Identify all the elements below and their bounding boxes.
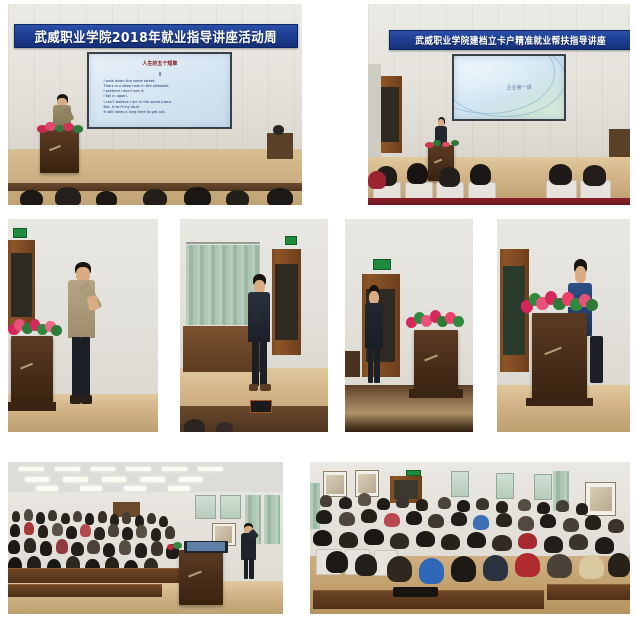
photo-2-banner: 武威职业学院建档立卡户精准就业帮扶指导讲座 <box>389 30 630 50</box>
photo-5-speaker <box>363 285 386 387</box>
photo-2-projection-screen: 企业第一课 <box>452 54 566 120</box>
exit-sign <box>373 259 390 270</box>
photo-7-podium <box>179 550 223 605</box>
photo-2-scene: 武威职业学院建档立卡户精准就业帮扶指导讲座 企业第一课 <box>368 4 630 205</box>
photo-6-podium <box>532 313 588 402</box>
photo-2-audience <box>368 157 630 205</box>
photo-1-banner-text: 武威职业学院2018年就业指导讲座活动周 <box>35 26 277 46</box>
photo-2-banner-text: 武威职业学院建档立卡户精准就业帮扶指导讲座 <box>415 33 606 47</box>
photo-3-podium <box>11 336 53 404</box>
photo-2[interactable]: 武威职业学院建档立卡户精准就业帮扶指导讲座 企业第一课 <box>368 4 630 205</box>
photo-4-speaker <box>245 274 275 393</box>
slide-chapter: II <box>89 72 230 78</box>
photo-1-scene: 武威职业学院2018年就业指导讲座活动周 人生的五个短章 II I walk d… <box>8 4 302 205</box>
photo-6-scene <box>497 219 630 432</box>
photo-5-scene <box>345 219 473 432</box>
photo-7-laptop <box>184 541 228 553</box>
photo-gallery: 武威职业学院2018年就业指导讲座活动周 人生的五个短章 II I walk d… <box>0 0 636 618</box>
photo-6-flowers <box>521 289 598 319</box>
photo-7-speaker <box>239 523 258 581</box>
photo-1[interactable]: 武威职业学院2018年就业指导讲座活动周 人生的五个短章 II I walk d… <box>8 4 302 205</box>
screen-ghost-text: 企业第一课 <box>507 84 532 91</box>
photo-6[interactable] <box>497 219 630 432</box>
photo-4-scene <box>180 219 328 432</box>
exit-sign <box>285 236 297 245</box>
photo-8[interactable] <box>310 462 630 614</box>
slide-title: 人生的五个短章 <box>89 60 230 67</box>
photo-2-door <box>378 76 402 152</box>
photo-4[interactable] <box>180 219 328 432</box>
photo-5[interactable] <box>345 219 473 432</box>
photo-2-flowers <box>423 139 462 151</box>
photo-1-flowers <box>34 121 87 137</box>
photo-3-speaker <box>64 262 103 407</box>
photo-7-scene <box>8 462 283 614</box>
slide-body: I walk down the same street. There is a … <box>103 79 222 115</box>
photo-3-flowers <box>8 317 62 343</box>
slide-line: It still takes a long time to get out. <box>103 110 222 115</box>
photo-5-flowers <box>406 308 467 334</box>
photo-1-audience <box>8 185 302 205</box>
photo-4-door <box>272 249 302 356</box>
exit-sign <box>13 228 27 239</box>
photo-7[interactable] <box>8 462 283 614</box>
photo-5-podium <box>414 330 458 394</box>
photo-1-banner: 武威职业学院2018年就业指导讲座活动周 <box>14 24 298 48</box>
photo-3[interactable] <box>8 219 158 432</box>
photo-8-scene <box>310 462 630 614</box>
photo-3-scene <box>8 219 158 432</box>
photo-1-projection-screen: 人生的五个短章 II I walk down the same street. … <box>87 52 232 128</box>
